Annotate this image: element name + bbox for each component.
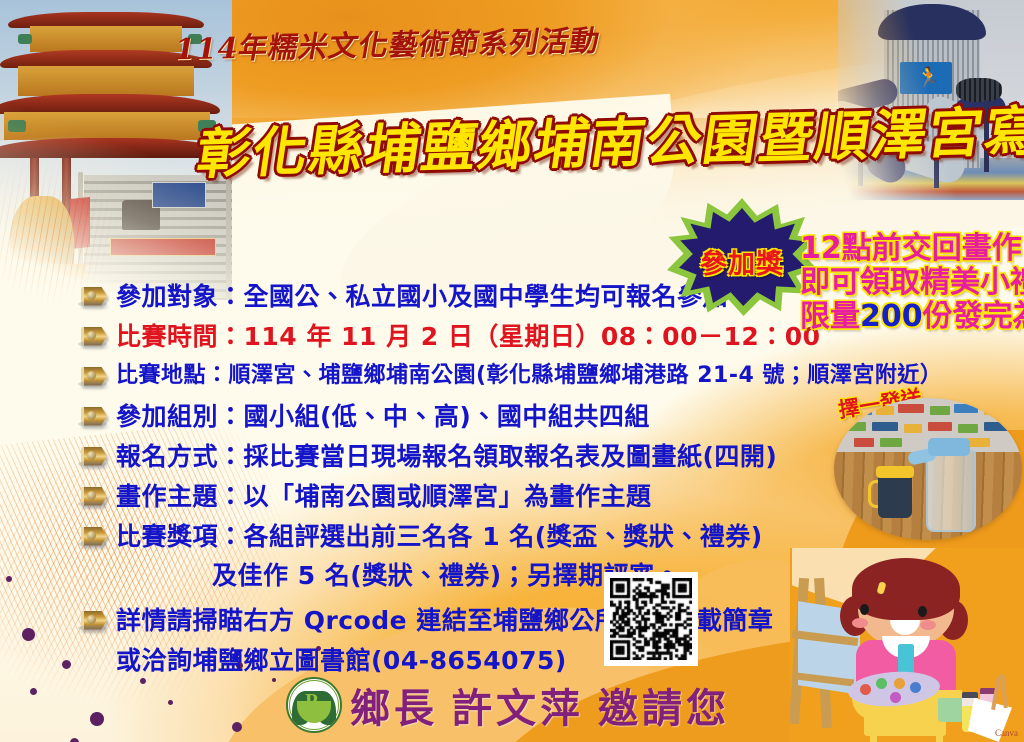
decor-dot <box>90 712 104 726</box>
promo-line-3: 限量200份發完為止 <box>800 300 1024 334</box>
promo-line-2: 即可領取精美小禮物 <box>800 266 1024 300</box>
canva-watermark: Canva <box>995 728 1018 738</box>
badge-label: 參加獎 <box>667 242 817 281</box>
list-item: 參加對象：全國公、私立國小及國中學生均可報名參加 <box>78 276 718 316</box>
detail-text: 參加組別：國小組(低、中、高)、國中組共四組 <box>116 404 650 429</box>
decor-dot <box>22 628 35 641</box>
list-item: 比賽地點：順澤宮、埔鹽鄉埔南公園(彰化縣埔鹽鄉埔港路 21-4 號；順澤宮附近） <box>78 356 718 396</box>
scroll-bullet-icon <box>78 366 109 387</box>
decor-dot <box>62 660 71 669</box>
running-figure-icon: 🏃 <box>916 67 936 89</box>
scroll-bullet-icon <box>78 406 109 427</box>
promo-limit-prefix: 限量 <box>800 299 860 334</box>
detail-text: 比賽獎項：各組評選出前三名各 1 名(獎盃、獎狀、禮券) <box>116 524 763 549</box>
detail-text: 比賽時間：114 年 11 月 2 日（星期日）08：00－12：00 <box>116 324 821 349</box>
scroll-bullet-icon <box>78 526 109 547</box>
decor-dot <box>6 576 12 582</box>
detail-text: 畫作主題：以「埔南公園或順澤宮」為畫作主題 <box>116 484 652 509</box>
girl-painting-illustration: Canva <box>790 548 1024 742</box>
detail-text: 報名方式：採比賽當日現場報名領取報名表及圖畫紙(四開) <box>116 444 777 469</box>
promo-limit-count: 200 <box>860 299 923 334</box>
promo-limit-suffix: 份發完為止 <box>923 299 1024 334</box>
decor-dot <box>70 738 79 742</box>
decor-dot <box>168 700 173 705</box>
signature-invite: 邀請您 <box>598 685 730 732</box>
promo-block: 12點前交回畫作 即可領取精美小禮物 限量200份發完為止 <box>800 232 1024 334</box>
signature-row: P 鄉長許文萍邀請您 <box>286 676 730 734</box>
poster-canvas: 🏃 114年糯米文化藝術節系列活動 彰化縣埔鹽鄉埔南公園暨順澤宮寫生比賽 參加對… <box>0 0 1024 742</box>
detail-text: 或洽詢埔鹽鄉立圖書館(04-8654075) <box>116 648 567 673</box>
list-item: 比賽時間：114 年 11 月 2 日（星期日）08：00－12：00 <box>78 316 718 356</box>
list-item: 參加組別：國小組(低、中、高)、國中組共四組 <box>78 396 718 436</box>
scroll-bullet-icon <box>78 326 109 347</box>
scroll-bullet-icon <box>78 610 109 631</box>
list-item: 比賽獎項：各組評選出前三名各 1 名(獎盃、獎狀、禮券) <box>78 516 718 556</box>
participation-prize-badge: 參加獎 <box>667 198 817 316</box>
promo-line-1: 12點前交回畫作 <box>800 232 1024 266</box>
scroll-bullet-icon <box>78 446 109 467</box>
signature-name: 許文萍 <box>452 685 584 732</box>
scroll-bullet-icon <box>78 486 109 507</box>
signature-text: 鄉長許文萍邀請您 <box>350 676 730 734</box>
decor-dot <box>232 722 242 732</box>
list-item: 畫作主題：以「埔南公園或順澤宮」為畫作主題 <box>78 476 718 516</box>
township-logo-icon: P <box>286 677 342 733</box>
decor-dot <box>30 688 37 695</box>
scroll-bullet-icon <box>78 286 109 307</box>
detail-text: 參加對象：全國公、私立國小及國中學生均可報名參加 <box>116 284 728 309</box>
qrcode[interactable] <box>604 572 698 666</box>
signature-role: 鄉長 <box>350 685 438 732</box>
detail-text: 比賽地點：順澤宮、埔鹽鄉埔南公園(彰化縣埔鹽鄉埔港路 21-4 號；順澤宮附近） <box>116 365 942 387</box>
list-item: 報名方式：採比賽當日現場報名領取報名表及圖畫紙(四開) <box>78 436 718 476</box>
gift-photo <box>834 398 1022 540</box>
